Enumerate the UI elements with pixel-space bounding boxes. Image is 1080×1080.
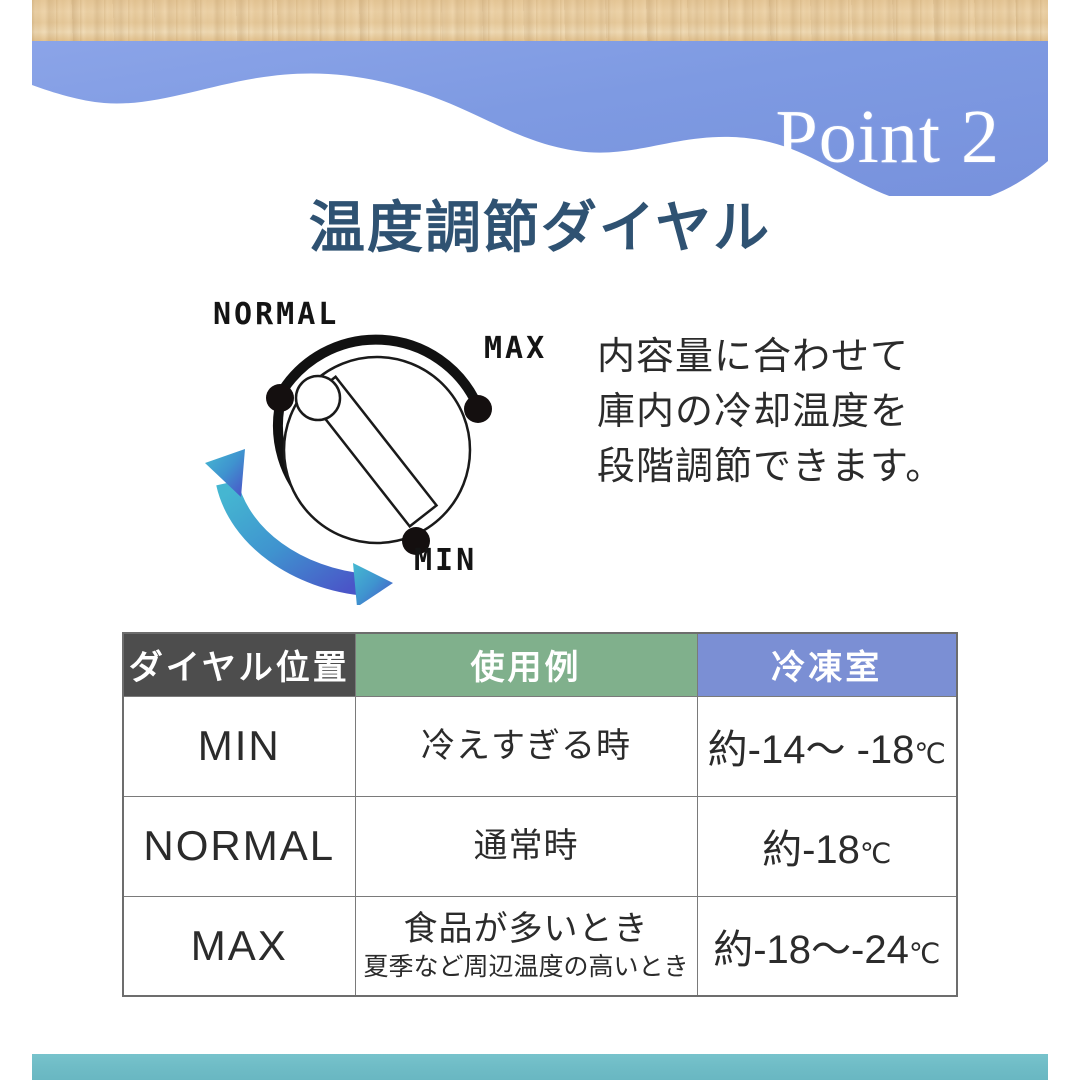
- temperature-dial-illustration: NORMAL MAX MIN: [187, 285, 567, 605]
- page-title: 温度調節ダイヤル: [32, 196, 1048, 260]
- content-column: Point 2 温度調節ダイヤル: [32, 0, 1048, 1080]
- point-label: Point 2: [776, 99, 1001, 175]
- cell-temp-value: 約-14〜 -18: [708, 728, 915, 772]
- cell-temp-unit: ℃: [914, 738, 945, 769]
- cell-position-normal: NORMAL: [123, 796, 355, 896]
- table-row: MAX 食品が多いとき 夏季など周辺温度の高いとき 約-18〜-24℃: [123, 896, 957, 996]
- dial-label-normal: NORMAL: [213, 297, 339, 332]
- cell-temp-value: 約-18: [762, 828, 860, 872]
- dial-dot-normal: [266, 384, 294, 412]
- cell-position-min: MIN: [123, 696, 355, 796]
- cell-temp-unit: ℃: [909, 938, 940, 969]
- table-header-use-case: 使用例: [355, 633, 697, 696]
- cell-temp-normal: 約-18℃: [697, 796, 957, 896]
- description-line-3: 段階調節できます。: [597, 440, 1017, 495]
- description-line-2: 庫内の冷却温度を: [597, 385, 1017, 440]
- table-header-freezer: 冷凍室: [697, 633, 957, 696]
- wood-texture-strip: [32, 0, 1048, 41]
- cell-position-max: MAX: [123, 896, 355, 996]
- cell-use-main: 食品が多いとき: [404, 910, 649, 948]
- cell-use-sub: 夏季など周辺温度の高いとき: [356, 952, 697, 982]
- dial-dot-max: [464, 395, 492, 423]
- dial-settings-table: ダイヤル位置 使用例 冷凍室 MIN 冷えすぎる時 約-14〜 -18℃: [122, 632, 958, 997]
- description-line-1: 内容量に合わせて: [597, 330, 1017, 385]
- cell-temp-min: 約-14〜 -18℃: [697, 696, 957, 796]
- cell-temp-value: 約-18〜-24: [713, 928, 909, 972]
- cell-use-normal: 通常時: [355, 796, 697, 896]
- table-header-row: ダイヤル位置 使用例 冷凍室: [123, 633, 957, 696]
- table-row: MIN 冷えすぎる時 約-14〜 -18℃: [123, 696, 957, 796]
- cell-use-main: 冷えすぎる時: [421, 727, 631, 765]
- cell-temp-max: 約-18〜-24℃: [697, 896, 957, 996]
- dial-label-min: MIN: [414, 543, 477, 578]
- footer-teal-band: [32, 1054, 1048, 1080]
- cell-temp-unit: ℃: [860, 838, 891, 869]
- cell-use-main: 通常時: [474, 827, 579, 865]
- table-header-dial-position: ダイヤル位置: [123, 633, 355, 696]
- scrollbar-track[interactable]: [1060, 0, 1072, 1080]
- page-root: Point 2 温度調節ダイヤル: [0, 0, 1080, 1080]
- table-row: NORMAL 通常時 約-18℃: [123, 796, 957, 896]
- blue-wave-header: Point 2: [32, 41, 1048, 196]
- dial-label-max: MAX: [484, 331, 547, 366]
- description-text: 内容量に合わせて 庫内の冷却温度を 段階調節できます。: [597, 330, 1017, 495]
- cell-use-max: 食品が多いとき 夏季など周辺温度の高いとき: [355, 896, 697, 996]
- cell-use-min: 冷えすぎる時: [355, 696, 697, 796]
